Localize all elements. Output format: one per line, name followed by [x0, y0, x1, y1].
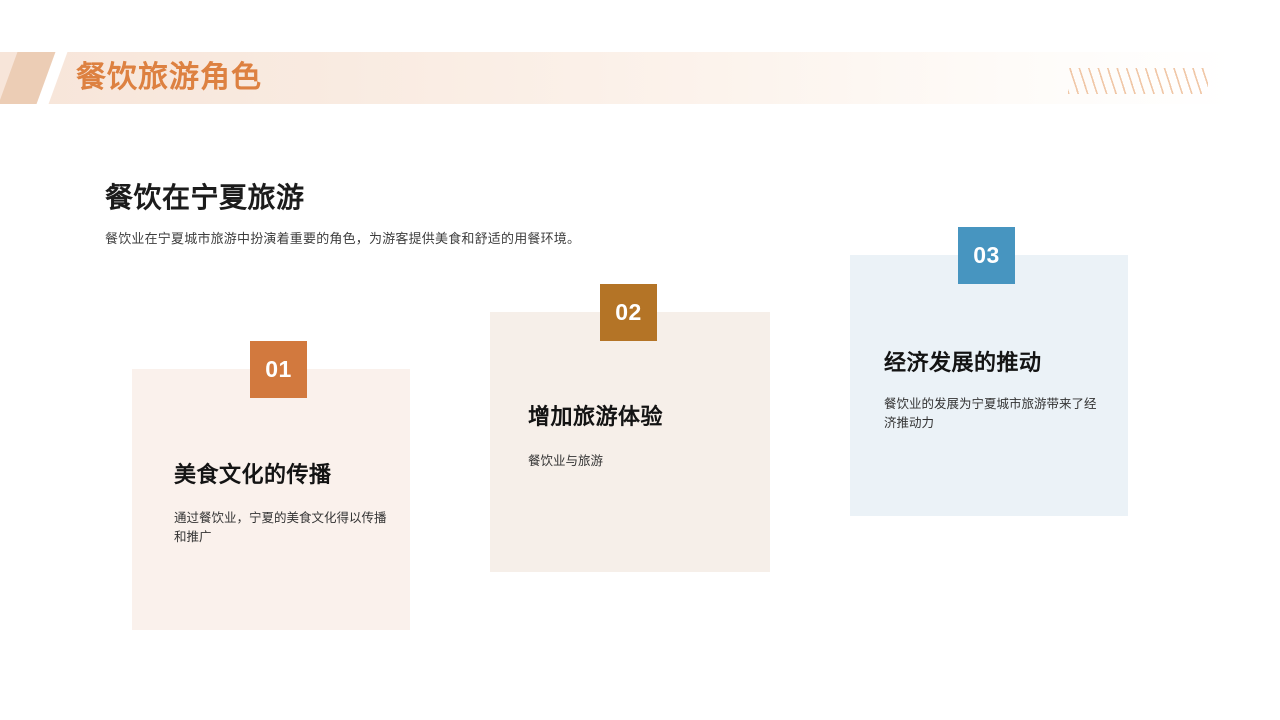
card-title: 增加旅游体验 — [528, 399, 663, 431]
page-title: 餐饮在宁夏旅游 — [105, 176, 305, 216]
page-subtitle: 餐饮业在宁夏城市旅游中扮演着重要的角色，为游客提供美食和舒适的用餐环境。 — [105, 228, 580, 247]
card-title: 经济发展的推动 — [884, 345, 1042, 377]
diagonal-stripes-decoration — [1068, 68, 1208, 94]
card-title: 美食文化的传播 — [174, 457, 332, 489]
card-description: 通过餐饮业，宁夏的美食文化得以传播和推广 — [174, 509, 389, 548]
card-number-badge: 02 — [600, 284, 657, 341]
card-description: 餐饮业与旅游 — [528, 452, 743, 471]
feature-card-03[interactable]: 03 经济发展的推动 餐饮业的发展为宁夏城市旅游带来了经济推动力 — [850, 255, 1128, 516]
feature-card-01[interactable]: 01 美食文化的传播 通过餐饮业，宁夏的美食文化得以传播和推广 — [132, 369, 410, 630]
card-number-badge: 03 — [958, 227, 1015, 284]
card-number-badge: 01 — [250, 341, 307, 398]
card-description: 餐饮业的发展为宁夏城市旅游带来了经济推动力 — [884, 395, 1099, 434]
header-title: 餐饮旅游角色 — [76, 52, 262, 104]
feature-card-02[interactable]: 02 增加旅游体验 餐饮业与旅游 — [490, 312, 770, 572]
